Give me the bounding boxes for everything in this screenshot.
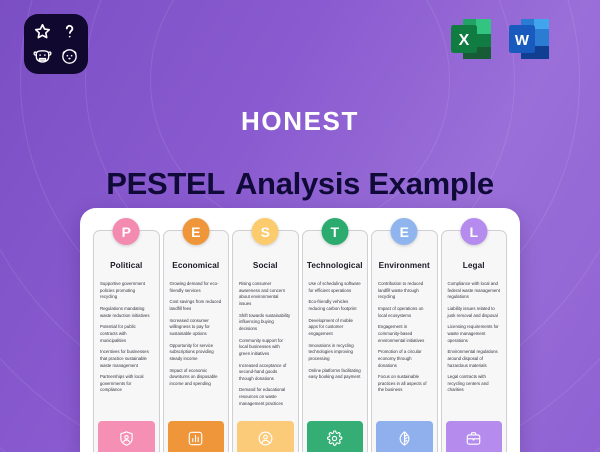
letter-badge-e2: E xyxy=(391,218,418,245)
bar-chart-icon xyxy=(187,430,204,447)
list-item: Potential for public contracts with muni… xyxy=(100,324,153,344)
column-tile-political xyxy=(98,421,155,452)
column-title: Legal xyxy=(442,261,507,270)
list-item: Innovations in recycling technologies im… xyxy=(309,343,362,363)
list-item: Demand for educational resources on wast… xyxy=(239,387,292,407)
gear-icon xyxy=(326,430,343,447)
column-items: Rising consumer awareness and concern ab… xyxy=(233,281,298,421)
column-tile-economical xyxy=(168,421,225,452)
slide-canvas: X W HONEST PESTELAnalysis Example P Poli… xyxy=(0,0,600,452)
list-item: Compliance with local and federal waste … xyxy=(448,281,501,301)
dog-face-icon xyxy=(57,45,82,68)
letter-badge-p: P xyxy=(113,218,140,245)
list-item: Environmental regulations around disposa… xyxy=(448,349,501,369)
letter-badge-l: L xyxy=(460,218,487,245)
column-title: Economical xyxy=(164,261,229,270)
list-item: Incentives for businesses that practice … xyxy=(100,349,153,369)
column-tile-social xyxy=(237,421,294,452)
list-item: Increased consumer willingness to pay fo… xyxy=(170,318,223,338)
letter-badge-s: S xyxy=(252,218,279,245)
list-item: Online platforms facilitating easy booki… xyxy=(309,368,362,381)
pestel-column-political[interactable]: P Political Supportive government polici… xyxy=(93,230,160,452)
list-item: Partnerships with local governments for … xyxy=(100,374,153,394)
page-title-rest: Analysis Example xyxy=(235,166,494,201)
column-items: Growing demand for eco-friendly services… xyxy=(164,281,229,421)
pestel-column-economical[interactable]: E Economical Growing demand for eco-frie… xyxy=(163,230,230,452)
list-item: Contribution to reduced landfill waste t… xyxy=(378,281,431,301)
column-title: Social xyxy=(233,261,298,270)
letter-badge-t: T xyxy=(321,218,348,245)
list-item: Legal contracts with recycling centers a… xyxy=(448,374,501,394)
list-item: Supportive government policies promoting… xyxy=(100,281,153,301)
column-items: Compliance with local and federal waste … xyxy=(442,281,507,421)
question-mark-icon xyxy=(57,20,82,43)
list-item: Regulations mandating waste reduction in… xyxy=(100,306,153,319)
column-tile-environment xyxy=(376,421,433,452)
list-item: Cost savings from reduced landfill fees xyxy=(170,299,223,312)
column-title: Political xyxy=(94,261,159,270)
column-title: Technological xyxy=(303,261,368,270)
list-item: Use of scheduling software for efficient… xyxy=(309,281,362,294)
briefcase-icon xyxy=(465,430,482,447)
list-item: Community support for local businesses w… xyxy=(239,338,292,358)
column-items: Supportive government policies promoting… xyxy=(94,281,159,421)
page-title: PESTELAnalysis Example xyxy=(0,166,600,202)
pestel-column-social[interactable]: S Social Rising consumer awareness and c… xyxy=(232,230,299,452)
list-item: Rising consumer awareness and concern ab… xyxy=(239,281,292,307)
list-item: Impact of economic downturns on disposab… xyxy=(170,368,223,388)
shield-person-icon xyxy=(118,430,135,447)
list-item: Increased acceptance of second-hand good… xyxy=(239,363,292,383)
excel-icon[interactable]: X xyxy=(448,16,494,62)
list-item: Eco-friendly vehicles reducing carbon fo… xyxy=(309,299,362,312)
column-tile-legal xyxy=(446,421,503,452)
column-tile-technological xyxy=(307,421,364,452)
pestel-columns: P Political Supportive government polici… xyxy=(93,230,507,452)
cow-face-icon xyxy=(30,45,55,68)
list-item: Licensing requirements for waste managem… xyxy=(448,324,501,344)
pestel-column-environment[interactable]: E Environment Contribution to reduced la… xyxy=(371,230,438,452)
column-title: Environment xyxy=(372,261,437,270)
list-item: Impact of operations on local ecosystems xyxy=(378,306,431,319)
brand-logo[interactable] xyxy=(24,14,88,74)
pestel-column-technological[interactable]: T Technological Use of scheduling softwa… xyxy=(302,230,369,452)
star-icon xyxy=(30,20,55,43)
list-item: Engagement in community-based environmen… xyxy=(378,324,431,344)
letter-badge-e1: E xyxy=(182,218,209,245)
column-items: Contribution to reduced landfill waste t… xyxy=(372,281,437,421)
svg-text:W: W xyxy=(515,32,530,49)
brand-title: HONEST xyxy=(0,106,600,137)
svg-text:X: X xyxy=(459,32,470,49)
list-item: Liability issues related to junk removal… xyxy=(448,306,501,319)
pestel-board: P Political Supportive government polici… xyxy=(80,208,520,452)
list-item: Development of mobile apps for customer … xyxy=(309,318,362,338)
page-title-keyword: PESTEL xyxy=(106,166,225,201)
list-item: Focus on sustainable practices in all as… xyxy=(378,374,431,394)
list-item: Shift towards sustainability influencing… xyxy=(239,313,292,333)
list-item: Growing demand for eco-friendly services xyxy=(170,281,223,294)
leaf-icon xyxy=(396,430,413,447)
word-icon[interactable]: W xyxy=(506,16,552,62)
list-item: Opportunity for service subscriptions pr… xyxy=(170,343,223,363)
pestel-column-legal[interactable]: L Legal Compliance with local and federa… xyxy=(441,230,508,452)
list-item: Promotion of a circular economy through … xyxy=(378,349,431,369)
column-items: Use of scheduling software for efficient… xyxy=(303,281,368,421)
person-circle-icon xyxy=(257,430,274,447)
